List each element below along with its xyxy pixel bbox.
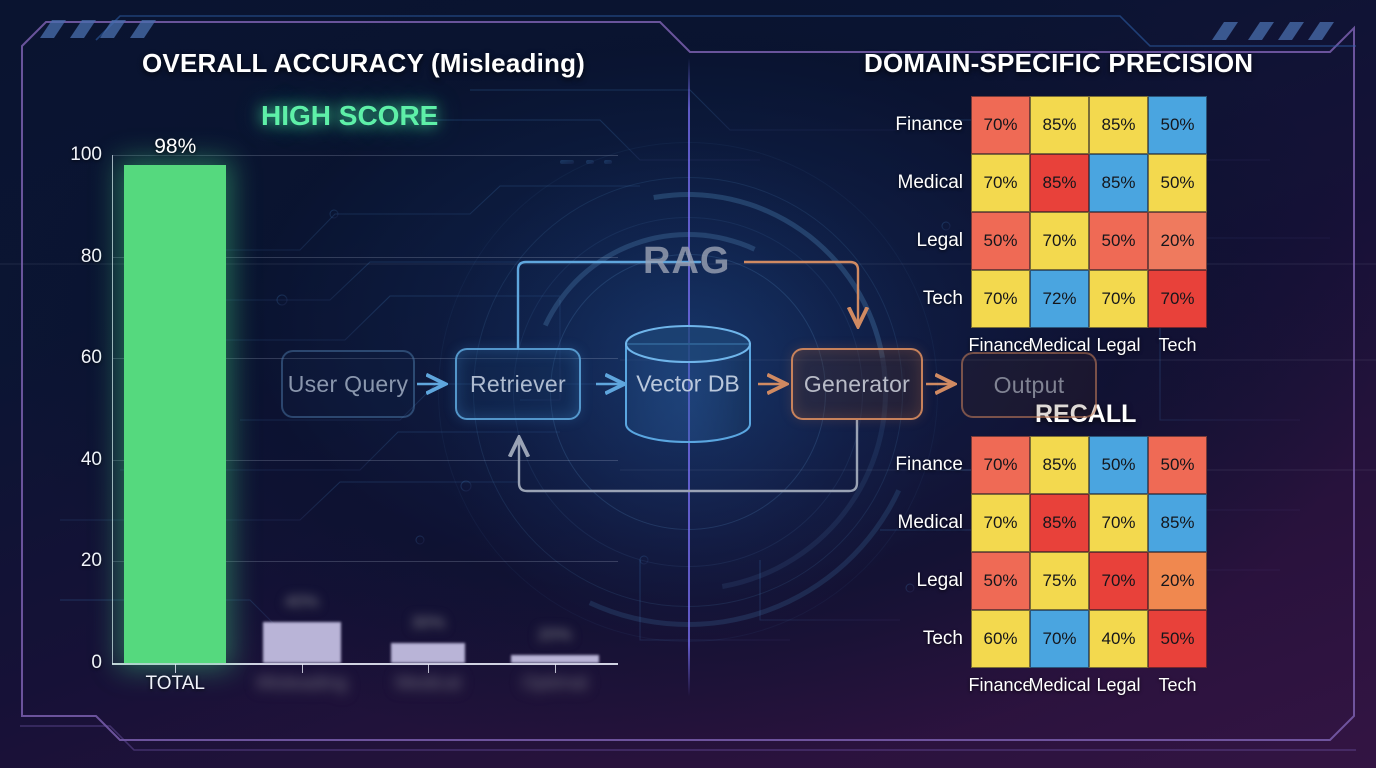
heatmap-column-label: Tech: [1158, 335, 1196, 356]
heatmap-row-label: Finance: [843, 114, 963, 136]
heatmap-cell[interactable]: 75%: [1030, 552, 1089, 610]
y-tick-label: 80: [40, 246, 102, 268]
heatmap-cell[interactable]: 20%: [1148, 552, 1207, 610]
y-tick-label: 20: [40, 550, 102, 572]
heatmap-column-label: Tech: [1158, 675, 1196, 696]
bar: [124, 165, 226, 663]
heatmap-grid: 70%85%50%50%70%85%70%85%50%75%70%20%60%7…: [971, 436, 1207, 668]
heatmap-cell[interactable]: 70%: [1089, 494, 1148, 552]
heatmap-cell[interactable]: 70%: [1030, 610, 1089, 668]
heatmap-cell[interactable]: 50%: [971, 552, 1030, 610]
slide-canvas: OVERALL ACCURACY (Misleading) HIGH SCORE…: [0, 0, 1376, 768]
bar-value-label: 20%: [538, 625, 572, 645]
heatmap-cell[interactable]: 85%: [1030, 494, 1089, 552]
heatmap-row-label: Finance: [843, 454, 963, 476]
heatmap-row-label: Legal: [843, 230, 963, 252]
bar: [511, 655, 599, 663]
heatmap-cell[interactable]: 70%: [971, 96, 1030, 154]
recall-title: RECALL: [1035, 400, 1136, 429]
heatmap-grid: 70%85%85%50%70%85%85%50%50%70%50%20%70%7…: [971, 96, 1207, 328]
y-tick-label: 60: [40, 347, 102, 369]
bar-value-label: 98%: [154, 135, 196, 159]
heatmap-cell[interactable]: 50%: [1148, 154, 1207, 212]
heatmap-column-label: Finance: [968, 335, 1032, 356]
heatmap-row-label: Medical: [843, 172, 963, 194]
overall-accuracy-bar-chart: 020406080100 98%40%30%20% TOTALMisleadin…: [0, 0, 688, 768]
y-axis-line: [112, 155, 113, 664]
heatmap-cell[interactable]: 40%: [1089, 610, 1148, 668]
right-panel-title: DOMAIN-SPECIFIC PRECISION: [864, 48, 1253, 79]
heatmap-cell[interactable]: 50%: [1089, 436, 1148, 494]
x-tick-mark: [302, 664, 303, 673]
y-tick-label: 40: [40, 449, 102, 471]
x-tick-mark: [428, 664, 429, 673]
heatmap-row-label: Legal: [843, 570, 963, 592]
x-axis-label: TOTAL: [146, 673, 205, 695]
heatmap-row-label: Medical: [843, 512, 963, 534]
x-axis-label: Medical: [396, 673, 461, 695]
precision-heatmap: FinanceMedicalLegalTechFinanceMedicalLeg…: [971, 96, 1207, 356]
x-axis-line: [112, 663, 618, 665]
recall-heatmap: FinanceMedicalLegalTechFinanceMedicalLeg…: [971, 436, 1207, 696]
y-tick-label: 100: [40, 144, 102, 166]
heatmap-cell[interactable]: 70%: [1089, 552, 1148, 610]
x-tick-mark: [175, 664, 176, 673]
x-tick-mark: [555, 664, 556, 673]
y-tick-label: 0: [40, 652, 102, 674]
node-generator-label: Generator: [804, 371, 910, 398]
heatmap-cell[interactable]: 70%: [1030, 212, 1089, 270]
heatmap-column-label: Finance: [968, 675, 1032, 696]
heatmap-cell[interactable]: 70%: [971, 154, 1030, 212]
heatmap-cell[interactable]: 20%: [1148, 212, 1207, 270]
heatmap-cell[interactable]: 85%: [1030, 436, 1089, 494]
heatmap-column-label: Legal: [1096, 335, 1140, 356]
heatmap-column-label: Medical: [1028, 335, 1090, 356]
heatmap-column-label: Legal: [1096, 675, 1140, 696]
heatmap-cell[interactable]: 50%: [1148, 96, 1207, 154]
heatmap-cell[interactable]: 85%: [1030, 154, 1089, 212]
heatmap-cell[interactable]: 72%: [1030, 270, 1089, 328]
heatmap-cell[interactable]: 70%: [971, 494, 1030, 552]
center-divider: [688, 58, 690, 696]
heatmap-cell[interactable]: 85%: [1030, 96, 1089, 154]
heatmap-cell[interactable]: 85%: [1089, 154, 1148, 212]
node-output-label: Output: [994, 372, 1065, 399]
heatmap-cell[interactable]: 70%: [971, 436, 1030, 494]
heatmap-cell[interactable]: 50%: [1089, 212, 1148, 270]
heatmap-cell[interactable]: 50%: [971, 212, 1030, 270]
heatmap-cell[interactable]: 70%: [1089, 270, 1148, 328]
node-generator[interactable]: Generator: [791, 348, 923, 420]
heatmap-row-label: Tech: [843, 628, 963, 650]
bar: [391, 643, 465, 663]
heatmap-cell[interactable]: 70%: [971, 270, 1030, 328]
heatmap-cell[interactable]: 85%: [1148, 494, 1207, 552]
heatmap-cell[interactable]: 85%: [1089, 96, 1148, 154]
heatmap-cell[interactable]: 60%: [971, 610, 1030, 668]
x-axis-label: Optimal: [522, 673, 587, 695]
heatmap-cell[interactable]: 50%: [1148, 610, 1207, 668]
heatmap-column-label: Medical: [1028, 675, 1090, 696]
bar-value-label: 30%: [411, 613, 445, 633]
bar: [263, 622, 341, 663]
x-axis-label: Misleading: [256, 673, 347, 695]
bar-value-label: 40%: [285, 592, 319, 612]
heatmap-cell[interactable]: 50%: [1148, 436, 1207, 494]
heatmap-cell[interactable]: 70%: [1148, 270, 1207, 328]
heatmap-row-label: Tech: [843, 288, 963, 310]
